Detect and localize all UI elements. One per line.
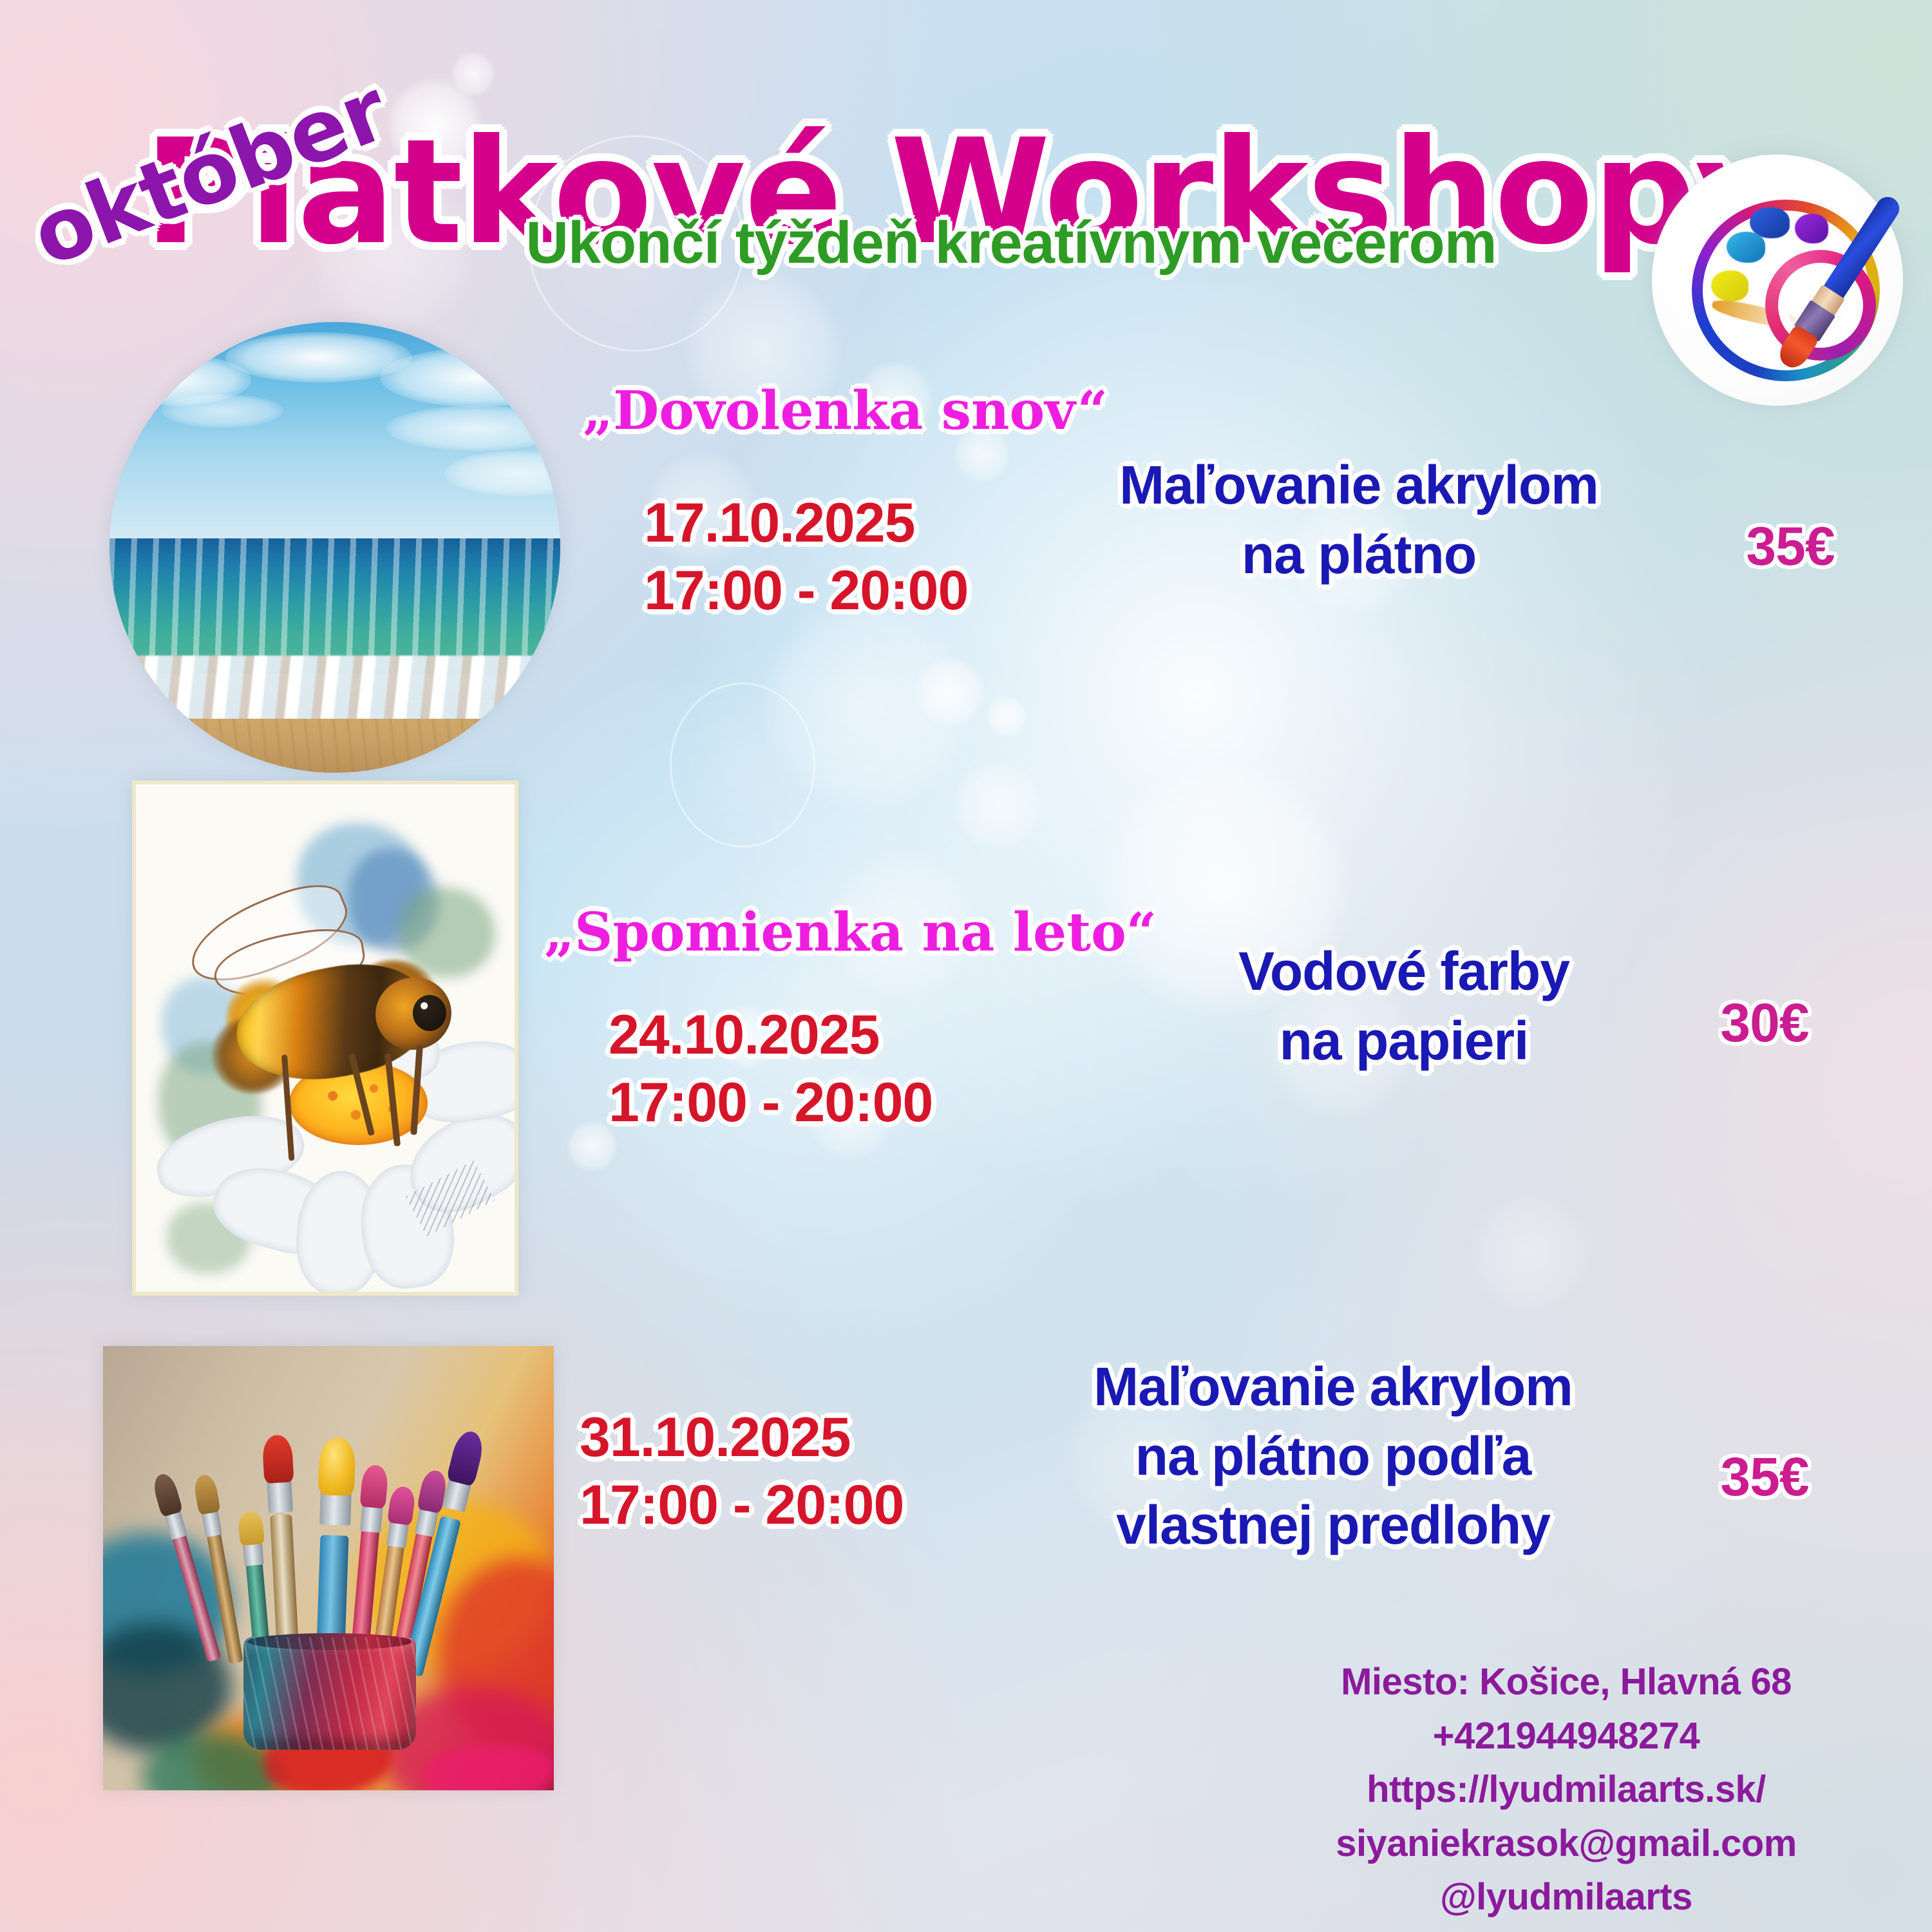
bokeh-circle xyxy=(914,657,985,728)
paint-blob-cyan xyxy=(1727,232,1765,263)
paint-blob-purple xyxy=(1795,214,1828,243)
contact-place: Miesto: Košice, Hlavná 68 xyxy=(1244,1655,1888,1709)
poster-canvas: Piatkové Workshopy Ukončí týždeň kreatív… xyxy=(0,0,1932,1932)
artwork-paintbrushes-in-cup xyxy=(103,1346,554,1790)
workshop-time: 17:00 - 20:00 xyxy=(644,557,968,625)
workshop-time: 17:00 - 20:00 xyxy=(609,1069,933,1137)
bokeh-circle xyxy=(953,760,1043,850)
workshop-date: 31.10.2025 xyxy=(580,1404,904,1472)
contact-block: Miesto: Košice, Hlavná 68 +421944948274 … xyxy=(1244,1655,1888,1924)
workshop-datetime: 31.10.2025 17:00 - 20:00 xyxy=(580,1404,904,1539)
workshop-title: „Dovolenka snov“ xyxy=(583,380,1108,442)
palette-and-brush-logo xyxy=(1652,155,1903,406)
workshop-price: 35€ xyxy=(1700,515,1880,578)
bokeh-circle xyxy=(985,696,1027,737)
contact-email[interactable]: siyaniekrasok@gmail.com xyxy=(1244,1817,1888,1871)
workshop-price: 30€ xyxy=(1674,992,1855,1054)
bee-eye xyxy=(413,995,446,1031)
workshop-datetime: 17.10.2025 17:00 - 20:00 xyxy=(644,489,968,625)
page-subtitle: Ukončí týždeň kreatívnym večerom xyxy=(399,209,1623,277)
bokeh-ring xyxy=(670,683,815,848)
technique-line-2: na plátno xyxy=(1043,520,1674,590)
workshop-title: „Spomienka na leto“ xyxy=(544,902,1157,963)
workshop-datetime: 24.10.2025 17:00 - 20:00 xyxy=(609,1001,933,1137)
workshop-date: 17.10.2025 xyxy=(644,489,968,557)
contact-phone[interactable]: +421944948274 xyxy=(1244,1709,1888,1763)
artwork-seascape-painting xyxy=(109,322,560,773)
workshop-time: 17:00 - 20:00 xyxy=(580,1472,904,1539)
technique-line-1: Maľovanie akrylom xyxy=(1005,1352,1662,1422)
workshop-technique: Maľovanie akrylom na plátno xyxy=(1043,451,1674,589)
bokeh-circle xyxy=(451,52,496,97)
workshop-technique: Vodové farby na papieri xyxy=(1133,937,1674,1075)
workshop-price: 35€ xyxy=(1674,1446,1855,1508)
contact-social[interactable]: @lyudmilaarts xyxy=(1244,1870,1888,1924)
paint-blob-yellow xyxy=(1711,270,1748,301)
technique-line-2: na plátno podľa xyxy=(1005,1422,1662,1492)
contact-website[interactable]: https://lyudmilaarts.sk/ xyxy=(1244,1763,1888,1817)
technique-line-2: na papieri xyxy=(1133,1007,1674,1076)
technique-line-1: Maľovanie akrylom xyxy=(1043,451,1674,520)
artwork-bee-on-daisy-watercolour xyxy=(132,781,518,1296)
technique-line-3: vlastnej predlohy xyxy=(1005,1491,1662,1560)
workshop-technique: Maľovanie akrylom na plátno podľa vlastn… xyxy=(1005,1352,1662,1560)
workshop-date: 24.10.2025 xyxy=(609,1001,933,1069)
brush-cup xyxy=(243,1637,416,1750)
technique-line-1: Vodové farby xyxy=(1133,937,1674,1007)
bokeh-circle xyxy=(1468,1191,1591,1314)
